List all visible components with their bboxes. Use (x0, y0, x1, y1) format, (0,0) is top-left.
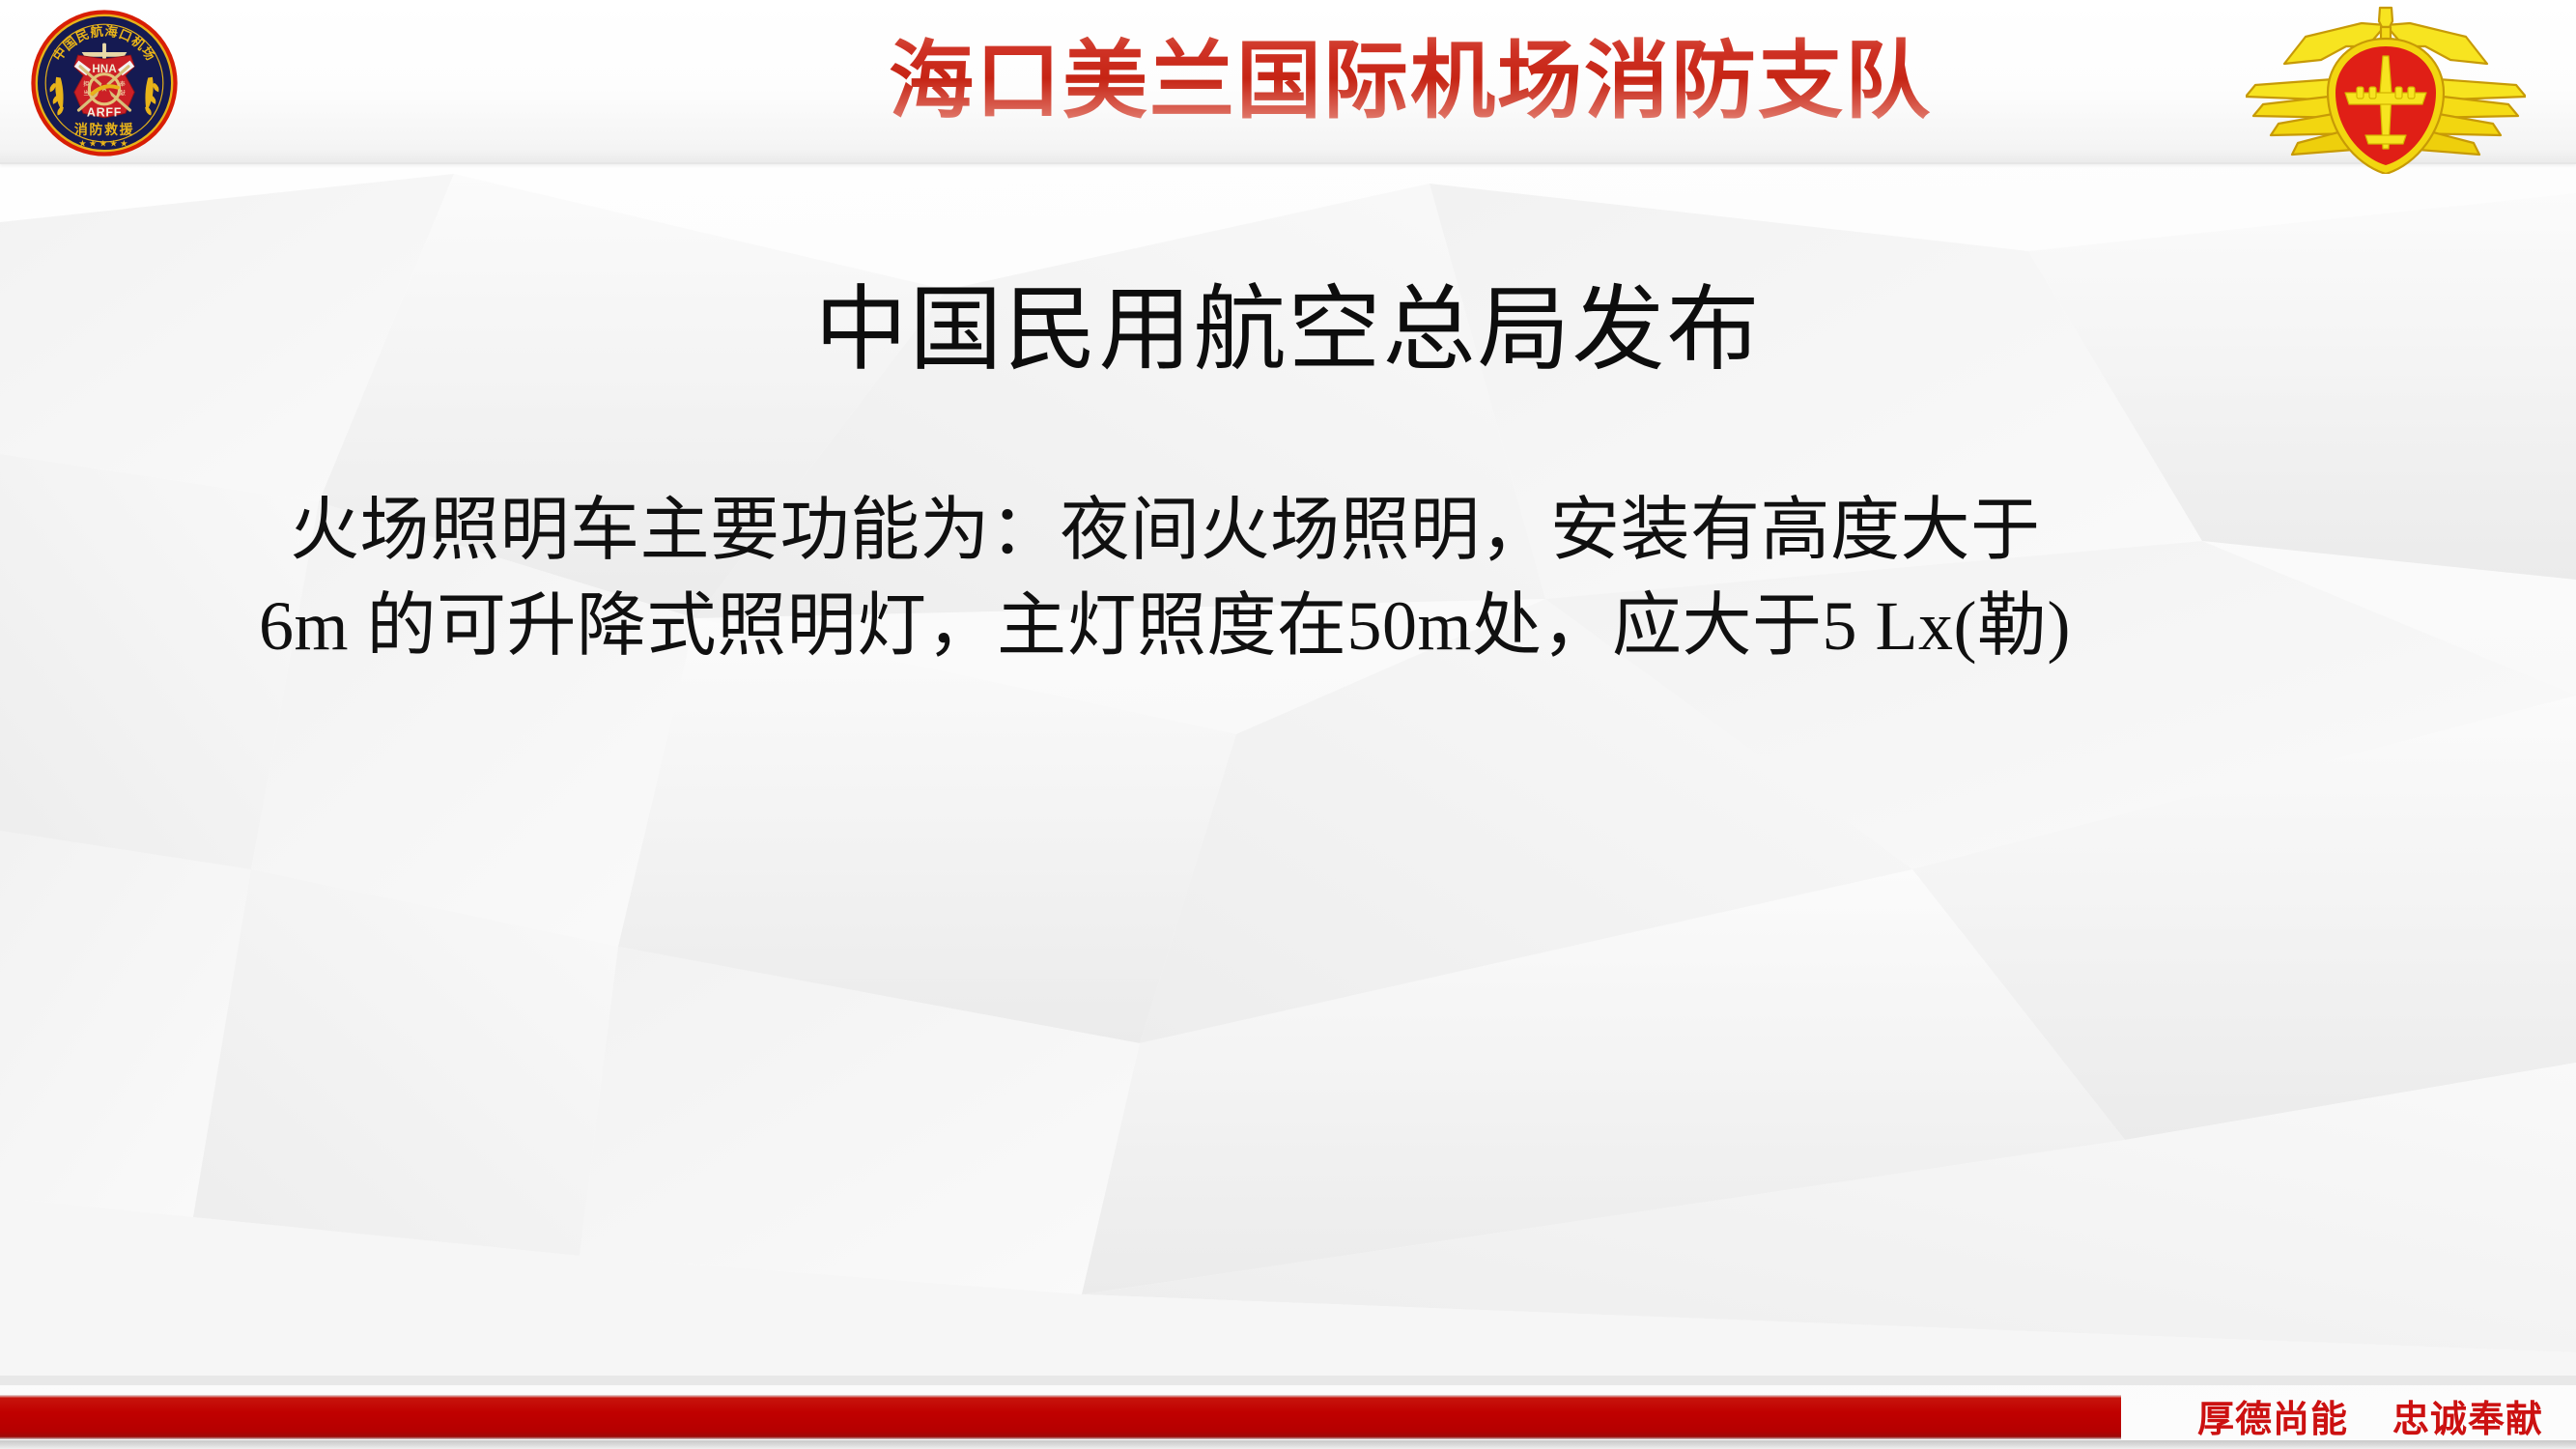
footer-slogan-left: 厚德尚能 (2197, 1389, 2348, 1442)
footer-underline (0, 1440, 2576, 1449)
presentation-slide: 中国民航海口机场 (0, 0, 2576, 1449)
svg-text:消防救援: 消防救援 (74, 122, 134, 137)
body-line: 6m 的可升降式照明灯，主灯照度在50m处，应大于5 Lx(勒) (259, 579, 2415, 674)
slide-background (0, 0, 2576, 1449)
civil-aviation-winged-emblem-icon (2246, 4, 2526, 174)
footer-slogan-right: 忠诚奉献 (2392, 1389, 2543, 1442)
footer: 厚德尚能 忠诚奉献 (0, 1385, 2576, 1449)
svg-text:★★★★★: ★★★★★ (78, 139, 130, 150)
svg-text:ARFF: ARFF (87, 105, 122, 119)
footer-slogan: 厚德尚能 忠诚奉献 (2197, 1391, 2543, 1439)
body-text-block: 火场照明车主要功能为：夜间火场照明，安装有高度大于 6m 的可升降式照明灯，主灯… (290, 483, 2415, 675)
header-title: 海口美兰国际机场消防支队 (666, 23, 2154, 139)
page-title: 中国民用航空总局发布 (0, 278, 2576, 383)
haikou-airport-arff-badge-icon: 中国民航海口机场 (29, 8, 180, 158)
body-line: 火场照明车主要功能为：夜间火场照明，安装有高度大于 (290, 483, 2415, 579)
footer-red-bar (0, 1395, 2121, 1439)
